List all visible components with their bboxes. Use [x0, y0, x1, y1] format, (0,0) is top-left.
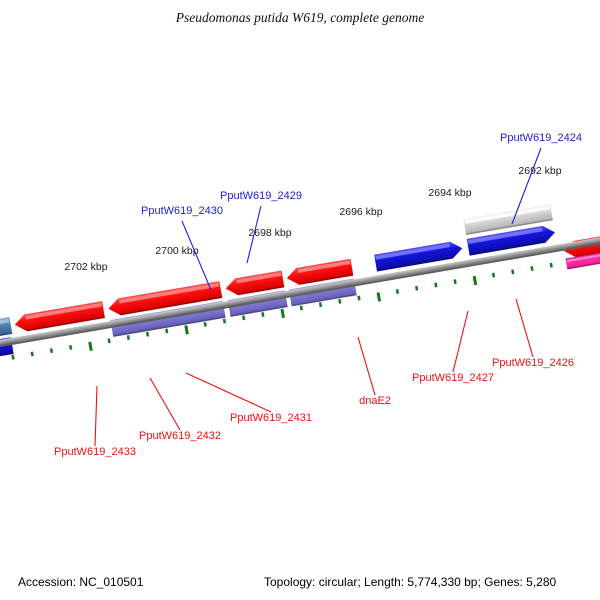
- ruler-minor-tick: [69, 345, 72, 350]
- ruler-minor-tick: [434, 283, 437, 288]
- ruler-minor-tick: [415, 286, 418, 291]
- ruler-minor-tick: [261, 312, 264, 317]
- genome-summary-text: Topology: circular; Length: 5,774,330 bp…: [264, 575, 557, 589]
- ruler-minor-tick: [357, 296, 360, 301]
- gene-label-pputw619_2431[interactable]: PputW619_2431: [230, 412, 312, 424]
- ruler-minor-tick: [338, 299, 341, 304]
- ruler-minor-tick: [550, 263, 553, 268]
- gene-label-pputw619_2433[interactable]: PputW619_2433: [54, 446, 136, 458]
- genome-axis: [0, 81, 600, 382]
- ruler-minor-tick: [204, 322, 207, 327]
- genome-map-canvas[interactable]: Pseudomonas putida W619, complete genome…: [0, 0, 600, 600]
- ruler-minor-tick: [31, 352, 34, 357]
- gene-label-pputw619_2424[interactable]: PputW619_2424: [500, 132, 582, 144]
- gene-label-leader-line: [358, 337, 375, 395]
- ruler-minor-tick: [492, 273, 495, 278]
- ruler-tick-label: 2696 kbp: [339, 206, 382, 218]
- ruler-minor-tick: [165, 329, 168, 334]
- page-title: Pseudomonas putida W619, complete genome: [175, 10, 425, 25]
- ruler-minor-tick: [11, 355, 14, 360]
- ruler-major-tick: [88, 342, 92, 351]
- gene-label-leader-line: [453, 311, 468, 372]
- ruler-major-tick: [473, 276, 477, 285]
- ruler-minor-tick: [396, 289, 399, 294]
- gene-label-dnae2[interactable]: dnaE2: [359, 395, 391, 407]
- ruler-tick-label: 2702 kbp: [64, 261, 107, 273]
- ruler-minor-tick: [242, 315, 245, 320]
- gene-label-pputw619_2426[interactable]: PputW619_2426: [492, 357, 574, 369]
- ruler-major-tick: [184, 325, 188, 334]
- gene-label-leader-line: [186, 373, 271, 412]
- gene-label-pputw619_2432[interactable]: PputW619_2432: [139, 430, 221, 442]
- ruler-minor-tick: [127, 335, 130, 340]
- gene-label-leader-line: [150, 378, 180, 430]
- ruler-minor-tick: [300, 306, 303, 311]
- ruler-minor-tick: [319, 302, 322, 307]
- ruler-major-tick: [280, 309, 284, 318]
- ruler-minor-tick: [146, 332, 149, 337]
- ruler-minor-tick: [50, 348, 53, 353]
- ruler-minor-tick: [511, 269, 514, 274]
- ruler-minor-tick: [530, 266, 533, 271]
- gene-label-pputw619_2429[interactable]: PputW619_2429: [220, 190, 302, 202]
- gene-feature[interactable]: [0, 317, 12, 337]
- ruler-minor-tick: [223, 319, 226, 324]
- gene-label-pputw619_2427[interactable]: PputW619_2427: [412, 372, 494, 384]
- gene-feature[interactable]: [563, 204, 600, 259]
- gene-label-leader-line: [95, 386, 97, 446]
- ruler-minor-tick: [453, 279, 456, 284]
- ruler-major-tick: [377, 292, 381, 301]
- ruler-tick-label: 2694 kbp: [428, 187, 471, 199]
- gene-label-pputw619_2430[interactable]: PputW619_2430: [141, 205, 223, 217]
- genome-viewer: Pseudomonas putida W619, complete genome…: [0, 0, 600, 600]
- gene-feature-body[interactable]: [563, 204, 600, 259]
- ruler-minor-tick: [107, 338, 110, 343]
- ruler-tick-label: 2692 kbp: [518, 165, 561, 177]
- gene-label-leader-line: [516, 299, 533, 357]
- accession-text: Accession: NC_010501: [18, 575, 144, 589]
